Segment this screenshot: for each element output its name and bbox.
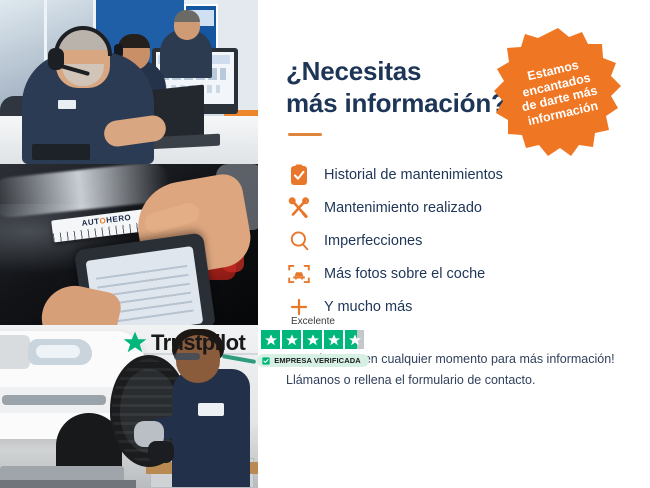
call-center-agents-photo bbox=[0, 0, 258, 164]
verified-company-badge: EMPRESA VERIFICADA bbox=[257, 354, 369, 367]
list-item-label: Más fotos sobre el coche bbox=[324, 266, 485, 282]
verified-check-icon bbox=[262, 357, 270, 365]
star-filled bbox=[324, 330, 343, 349]
trustpilot-logo: Trustpilot bbox=[122, 316, 245, 356]
checklist-icon bbox=[286, 162, 312, 188]
list-item: Historial de mantenimientos bbox=[286, 158, 650, 191]
verified-company-label: EMPRESA VERIFICADA bbox=[274, 356, 361, 365]
title-underline-accent bbox=[288, 133, 322, 136]
star-filled bbox=[303, 330, 322, 349]
badge-text: Estamos encantados de darte más informac… bbox=[501, 52, 615, 132]
magnifier-icon bbox=[286, 228, 312, 254]
list-item: Más fotos sobre el coche bbox=[286, 257, 650, 290]
trustpilot-rating-label: Excelente bbox=[291, 316, 335, 327]
feature-list: Historial de mantenimientos Mantenimient… bbox=[286, 158, 650, 323]
contact-note-line-2: Llámanos o rellena el formulario de cont… bbox=[286, 370, 650, 391]
star-filled bbox=[282, 330, 301, 349]
star-filled bbox=[261, 330, 280, 349]
list-item-label: Y mucho más bbox=[324, 299, 412, 315]
headline-line-1: ¿Necesitas bbox=[286, 56, 421, 86]
list-item: Mantenimiento realizado bbox=[286, 191, 650, 224]
trustpilot-stars bbox=[261, 330, 364, 349]
photo-column: AUTOHERO bbox=[0, 0, 258, 488]
autohero-ruler-inspection-photo: AUTOHERO bbox=[0, 164, 258, 325]
car-scan-icon bbox=[286, 261, 312, 287]
list-item-label: Imperfecciones bbox=[324, 233, 422, 249]
list-item-label: Mantenimiento realizado bbox=[324, 200, 482, 216]
star-partial bbox=[345, 330, 364, 349]
trustpilot-star-icon bbox=[122, 330, 148, 356]
list-item-label: Historial de mantenimientos bbox=[324, 167, 503, 183]
list-item: Imperfecciones bbox=[286, 224, 650, 257]
information-banner: AUTOHERO ¿Necesita bbox=[0, 0, 650, 488]
info-badge: Estamos encantados de darte más informac… bbox=[492, 26, 624, 158]
trustpilot-rating: Trustpilot Excelente bbox=[122, 316, 369, 367]
trustpilot-wordmark: Trustpilot bbox=[151, 330, 245, 356]
tools-icon bbox=[286, 195, 312, 221]
